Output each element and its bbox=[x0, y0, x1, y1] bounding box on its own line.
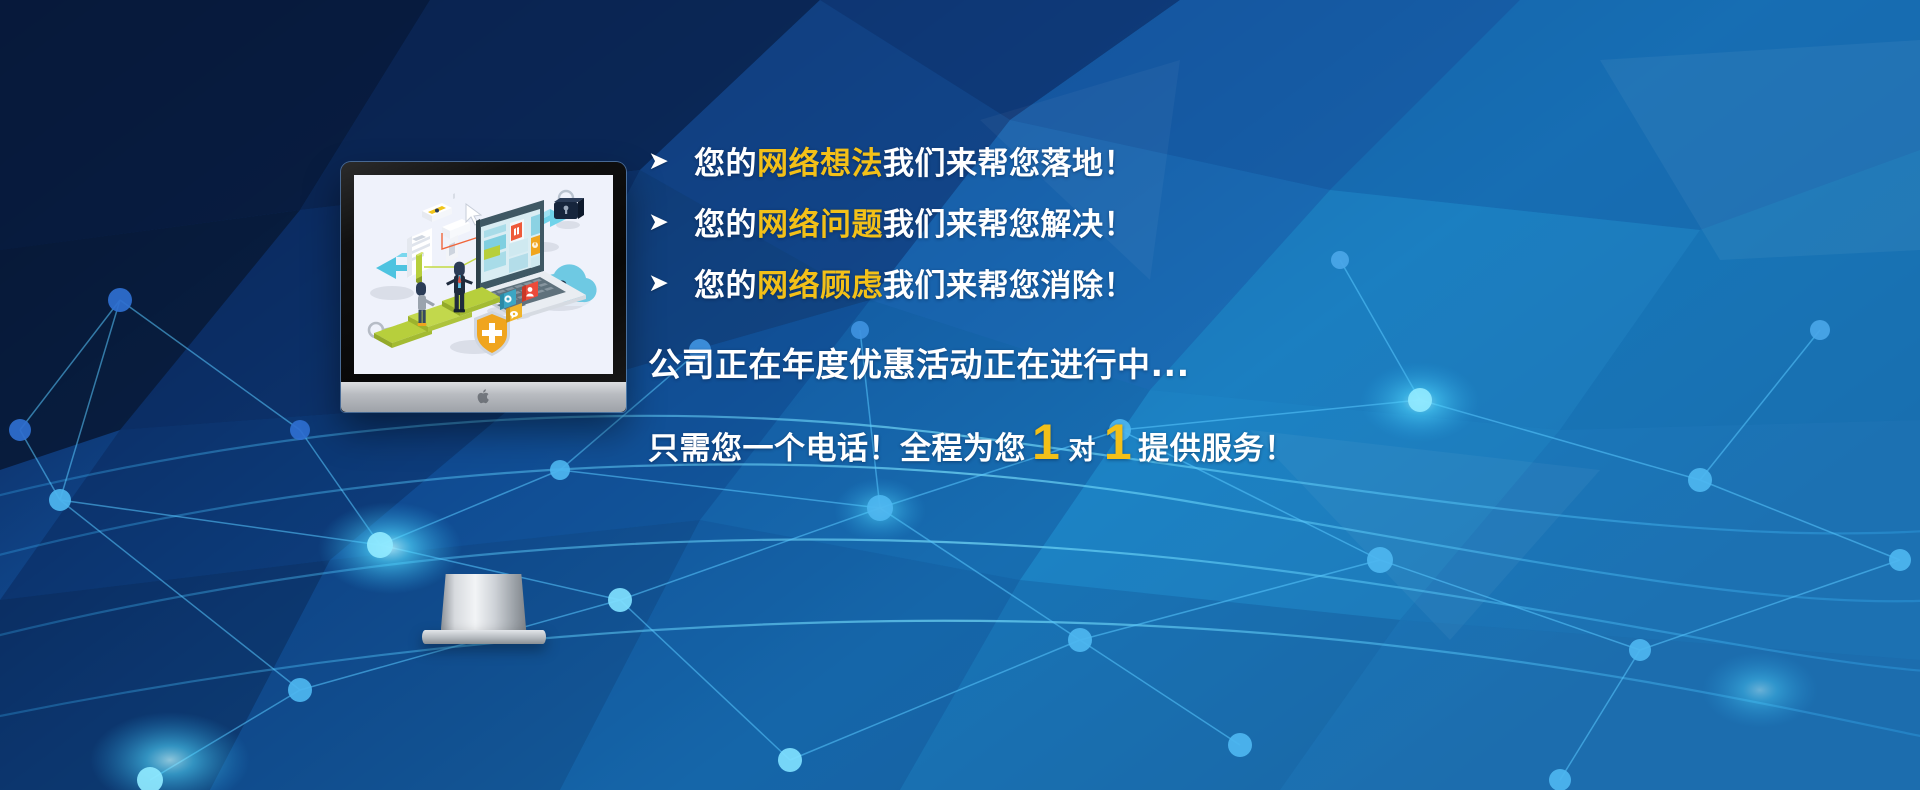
marketing-copy-block: ➤ 您的网络想法我们来帮您落地！ ➤ 您的网络问题我们来帮您解决！ ➤ 您的网络… bbox=[648, 130, 1368, 468]
bullet-suffix-3: 我们来帮您消除！ bbox=[883, 268, 1135, 304]
cta-number-two: 1 bbox=[1098, 420, 1138, 465]
promo-banner: ➤ 您的网络想法我们来帮您落地！ ➤ 您的网络问题我们来帮您解决！ ➤ 您的网络… bbox=[0, 0, 1920, 790]
monitor-screen bbox=[354, 175, 613, 374]
cta-number-one: 1 bbox=[1026, 420, 1066, 465]
arrow-right-icon: ➤ bbox=[648, 209, 694, 234]
bullet-item-2: ➤ 您的网络问题我们来帮您解决！ bbox=[648, 191, 1368, 251]
cta-tail: 提供服务！ bbox=[1138, 423, 1296, 468]
bullet-highlight-3: 网络顾虑 bbox=[757, 268, 883, 304]
bullet-highlight-1: 网络想法 bbox=[757, 146, 883, 182]
bullet-prefix-3: 您的 bbox=[694, 268, 757, 304]
apple-display-monitor bbox=[341, 162, 626, 412]
promo-text: 公司正在年度优惠活动正在进行中... bbox=[648, 338, 1368, 386]
monitor-stand-neck bbox=[441, 574, 527, 634]
bullet-text-2: 您的网络问题我们来帮您解决！ bbox=[694, 199, 1135, 244]
arrow-right-icon: ➤ bbox=[648, 148, 694, 173]
apple-logo-icon bbox=[477, 389, 490, 404]
bullet-text-3: 您的网络顾虑我们来帮您消除！ bbox=[694, 260, 1135, 305]
arrow-right-icon: ➤ bbox=[648, 270, 694, 295]
bullet-suffix-2: 我们来帮您解决！ bbox=[883, 207, 1135, 243]
bullet-highlight-2: 网络问题 bbox=[757, 207, 883, 243]
bullet-item-1: ➤ 您的网络想法我们来帮您落地！ bbox=[648, 130, 1368, 190]
cta-lead: 只需您一个电话！全程为您 bbox=[648, 423, 1026, 468]
bullet-suffix-1: 我们来帮您落地！ bbox=[883, 146, 1135, 182]
cta-middle: 对 bbox=[1066, 428, 1098, 467]
bullet-prefix-2: 您的 bbox=[694, 207, 757, 243]
cta-text: 只需您一个电话！全程为您 1 对 1 提供服务！ bbox=[648, 420, 1368, 468]
bullet-text-1: 您的网络想法我们来帮您落地！ bbox=[694, 138, 1135, 183]
monitor-stand-base bbox=[422, 630, 546, 644]
monitor-chin bbox=[341, 382, 626, 412]
bullet-prefix-1: 您的 bbox=[694, 146, 757, 182]
bullet-item-3: ➤ 您的网络顾虑我们来帮您消除！ bbox=[648, 252, 1368, 312]
